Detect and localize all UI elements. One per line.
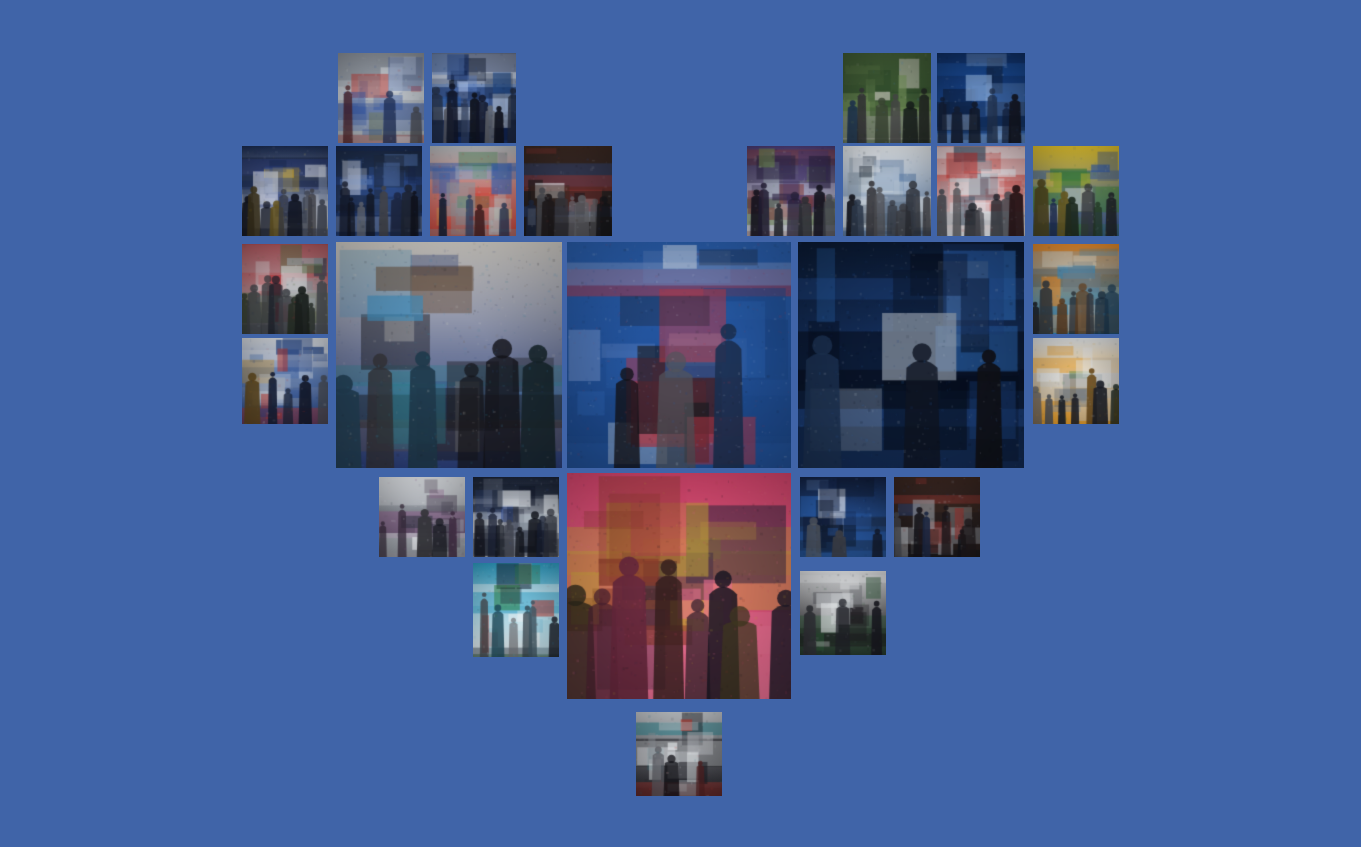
photo-image-award-ceremony-trophy-large bbox=[567, 473, 791, 699]
photo-image-auditorium-presentation-blue bbox=[747, 146, 835, 236]
photo-tile-outdoor-ceremony-crowd[interactable]: Outdoor gathering with participants in r… bbox=[242, 244, 328, 334]
photo-tile-tv-interview-news-center[interactable]: TV interview in the Watertex Beijing new… bbox=[473, 563, 559, 657]
photo-image-volunteer-supplies-distribution bbox=[1033, 244, 1119, 334]
photo-tile-booth-staff-blue-hall[interactable]: Company booth with staff in blue uniform… bbox=[800, 477, 886, 557]
photo-gallery-mosaic: Outdoor basketball game, players in blue… bbox=[0, 0, 1361, 847]
photo-image-busy-booth-crowd-dark bbox=[473, 477, 559, 557]
photo-tile-volunteer-supplies-distribution[interactable]: Volunteers in blue shirts distributing g… bbox=[1033, 244, 1119, 334]
photo-tile-product-video-pipe-closeup-large[interactable]: Large photo: promotional video still of … bbox=[798, 242, 1024, 468]
photo-tile-expo-booth-product-demo[interactable]: Two men examining a product sample at an… bbox=[1033, 338, 1119, 424]
photo-image-booth-staff-blue-hall bbox=[800, 477, 886, 557]
photo-tile-blood-donation-award-presentation[interactable]: Three men holding certificates under a r… bbox=[937, 146, 1025, 236]
photo-image-charity-walk-volunteers bbox=[1033, 146, 1119, 236]
photo-image-group-photo-under-trees bbox=[843, 53, 931, 143]
photo-image-outdoor-sports-meet-lineup bbox=[430, 146, 516, 236]
photo-tile-busy-booth-crowd-dark[interactable]: Busy exhibition aisle with a crowd of vi… bbox=[473, 477, 559, 557]
photo-tile-booth-visitors-dark-hall[interactable]: Visitors at a dark exhibition hall booth… bbox=[336, 146, 422, 236]
photo-image-tv-interview-news-center bbox=[473, 563, 559, 657]
photo-image-exhibition-booth-white-counter bbox=[242, 146, 328, 236]
photo-image-drum-ceremony-stage bbox=[242, 338, 328, 424]
photo-image-product-video-pipe-closeup-large bbox=[798, 242, 1024, 468]
photo-tile-exhibition-visitors-main-large[interactable]: Large photo: visitors and staff talking … bbox=[336, 242, 562, 468]
photo-image-booth-visitors-dark-hall bbox=[336, 146, 422, 236]
photo-image-contract-signing-ceremony bbox=[937, 53, 1025, 143]
photo-image-basketball-game-outdoor bbox=[338, 53, 424, 143]
photo-tile-conference-dealer-meeting[interactable]: Dealer conference with many attendees se… bbox=[894, 477, 980, 557]
photo-image-outdoor-ceremony-crowd bbox=[242, 244, 328, 334]
photo-tile-exhibition-booth-white-counter[interactable]: Exhibition booth with white counter, vis… bbox=[242, 146, 328, 236]
photo-tile-exhibition-booth-night-blue[interactable]: Trade show exhibition booth with blue li… bbox=[432, 53, 516, 143]
photo-image-exhibition-visitors-main-large bbox=[336, 242, 562, 468]
photo-tile-contract-signing-ceremony[interactable]: Formal contract signing ceremony on stag… bbox=[937, 53, 1025, 143]
photo-tile-auditorium-presentation-blue[interactable]: Auditorium audience facing a blue stage … bbox=[747, 146, 835, 236]
photo-image-exhibition-booth-night-blue bbox=[432, 53, 516, 143]
photo-tile-keynote-speaker-presentation-large[interactable]: Large photo: keynote speaker at podium w… bbox=[567, 242, 791, 468]
photo-image-expo-booth-product-demo bbox=[1033, 338, 1119, 424]
photo-tile-three-men-company-lobby[interactable]: Three men standing in the company lobby … bbox=[800, 571, 886, 655]
photo-image-conference-dealer-meeting bbox=[894, 477, 980, 557]
photo-image-three-men-company-lobby bbox=[800, 571, 886, 655]
photo-image-keynote-speaker-presentation-large bbox=[567, 242, 791, 468]
photo-tile-charity-walk-volunteers[interactable]: Volunteers in yellow and blue vests walk… bbox=[1033, 146, 1119, 236]
photo-tile-award-ceremony-trophy-large[interactable]: Large photo: award ceremony, a man recei… bbox=[567, 473, 791, 699]
photo-image-blood-donation-award-presentation bbox=[937, 146, 1025, 236]
photo-tile-basketball-game-outdoor[interactable]: Outdoor basketball game, players in blue… bbox=[338, 53, 424, 143]
photo-image-lab-technician-equipment bbox=[843, 146, 931, 236]
photo-image-booth-conversation-white-shirts bbox=[379, 477, 465, 557]
photo-tile-drum-ceremony-stage[interactable]: Ceremonial drum striking on stage with b… bbox=[242, 338, 328, 424]
photo-tile-outdoor-sports-meet-lineup[interactable]: Outdoor company sports meet with staff l… bbox=[430, 146, 516, 236]
photo-tile-group-photo-under-trees[interactable]: Large company group photo outdoors in fr… bbox=[843, 53, 931, 143]
photo-image-conference-audience-crowd bbox=[524, 146, 612, 236]
photo-image-videographer-filming-booth bbox=[636, 712, 722, 796]
photo-tile-videographer-filming-booth[interactable]: Videographer filming an interview at an … bbox=[636, 712, 722, 796]
photo-tile-booth-conversation-white-shirts[interactable]: Staff in white shirts talking with visit… bbox=[379, 477, 465, 557]
photo-tile-lab-technician-equipment[interactable]: Technician in white lab coat working at … bbox=[843, 146, 931, 236]
photo-tile-conference-audience-crowd[interactable]: Crowded conference room with attendees s… bbox=[524, 146, 612, 236]
